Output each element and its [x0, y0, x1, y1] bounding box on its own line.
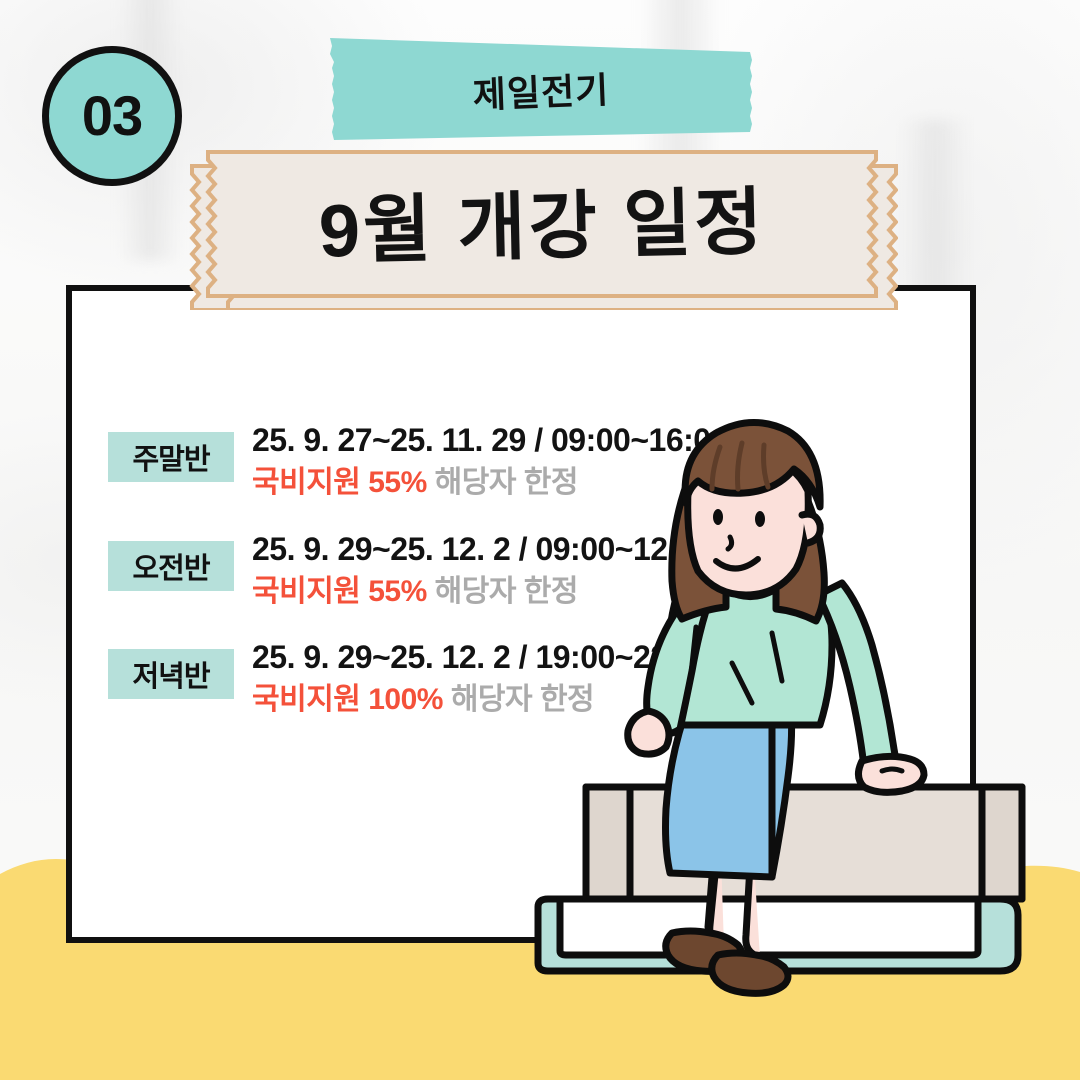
subsidy-highlight: 국비지원 55% [252, 466, 427, 499]
brand-name: 제일전기 [324, 28, 758, 152]
subsidy-highlight: 국비지원 55% [252, 575, 427, 608]
class-type-badge: 저녁반 [108, 649, 234, 699]
section-number-badge: 03 [42, 46, 182, 186]
section-number-label: 03 [82, 88, 142, 144]
class-type-badge: 오전반 [108, 541, 234, 591]
subsidy-highlight: 국비지원 100% [252, 683, 443, 716]
poster-canvas: 03 9월 개강 일정 제일전기 주말 [0, 0, 1080, 1080]
page-title: 9월 개강 일정 [185, 143, 900, 298]
class-type-badge: 주말반 [108, 432, 234, 482]
woman-on-books-illustration [520, 395, 1080, 1035]
